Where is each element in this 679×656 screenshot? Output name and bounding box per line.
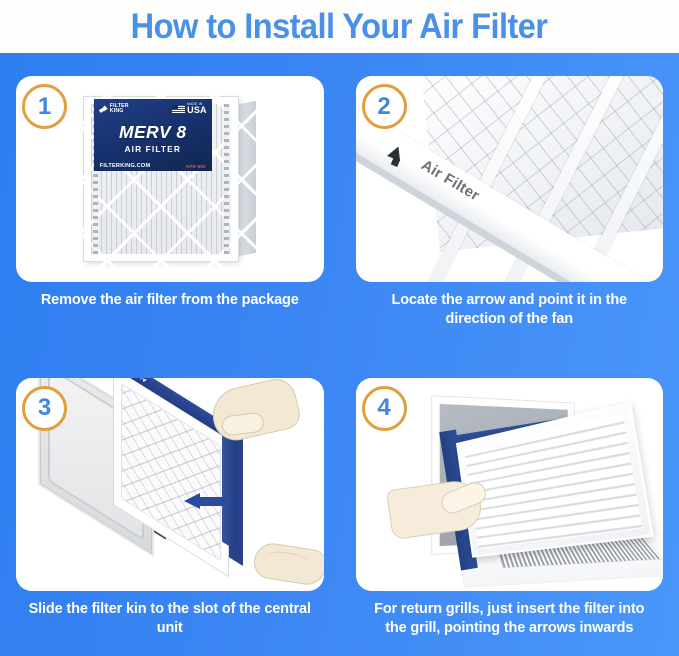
arrow-head [184,493,200,509]
step-4-caption: For return grills, just insert the filte… [356,600,664,639]
country-label: USA [187,106,207,115]
step-1: FILTER KING MADE IN USA [0,53,340,355]
merv-rating: MERV 8 [99,122,207,143]
air-filter-product-photo: FILTER KING MADE IN USA [84,97,256,261]
apr-rating-label: APR 850 [186,164,206,169]
website-label: FILTERKING.COM [100,163,151,169]
label-subtitle: AIR FILTER [99,144,207,154]
made-in-usa-text: MADE IN USA [187,103,207,115]
step-2-caption: Locate the arrow and point it in the dir… [356,291,664,330]
brand-line-2: KING [110,109,129,114]
hand-upper [207,378,302,445]
infographic-page: How to Install Your Air Filter [0,0,679,656]
step-4-badge: 4 [362,386,407,431]
step-1-badge: 1 [22,84,67,129]
hand-lower [252,540,324,587]
crown-icon [99,105,108,114]
step-4-card: 4 [356,378,664,591]
step-2-badge: 2 [362,84,407,129]
title-bar: How to Install Your Air Filter [0,0,679,53]
filter-king-logo: FILTER KING [99,104,129,114]
made-in-usa-block: MADE IN USA [172,103,207,115]
filter-right-rib [224,104,229,254]
us-flag-icon [172,105,185,113]
brand-wordmark: FILTER KING [110,104,129,114]
step-3-card: 3 [16,378,324,591]
step-3-caption: Slide the filter kin to the slot of the … [16,600,324,639]
filter-product-label: FILTER KING MADE IN USA [94,99,212,171]
step-1-caption: Remove the air filter from the package [16,291,324,310]
step-2-card: Air Filter 2 [356,76,664,282]
step-4: 4 For return grills, just insert the fil… [340,355,679,656]
steps-grid: FILTER KING MADE IN USA [0,53,679,656]
step-3: 3 Slide the filter kin to the slot of th… [0,355,340,656]
step-2: Air Filter 2 Locate the arrow and point … [340,53,679,355]
page-title: How to Install Your Air Filter [131,9,548,44]
label-top-row: FILTER KING MADE IN USA [99,103,207,115]
label-bottom-row: FILTERKING.COM APR 850 [99,163,207,169]
arrow-shaft [198,497,230,506]
step-3-badge: 3 [22,386,67,431]
step-1-card: FILTER KING MADE IN USA [16,76,324,282]
insert-direction-arrow-icon [184,493,230,509]
